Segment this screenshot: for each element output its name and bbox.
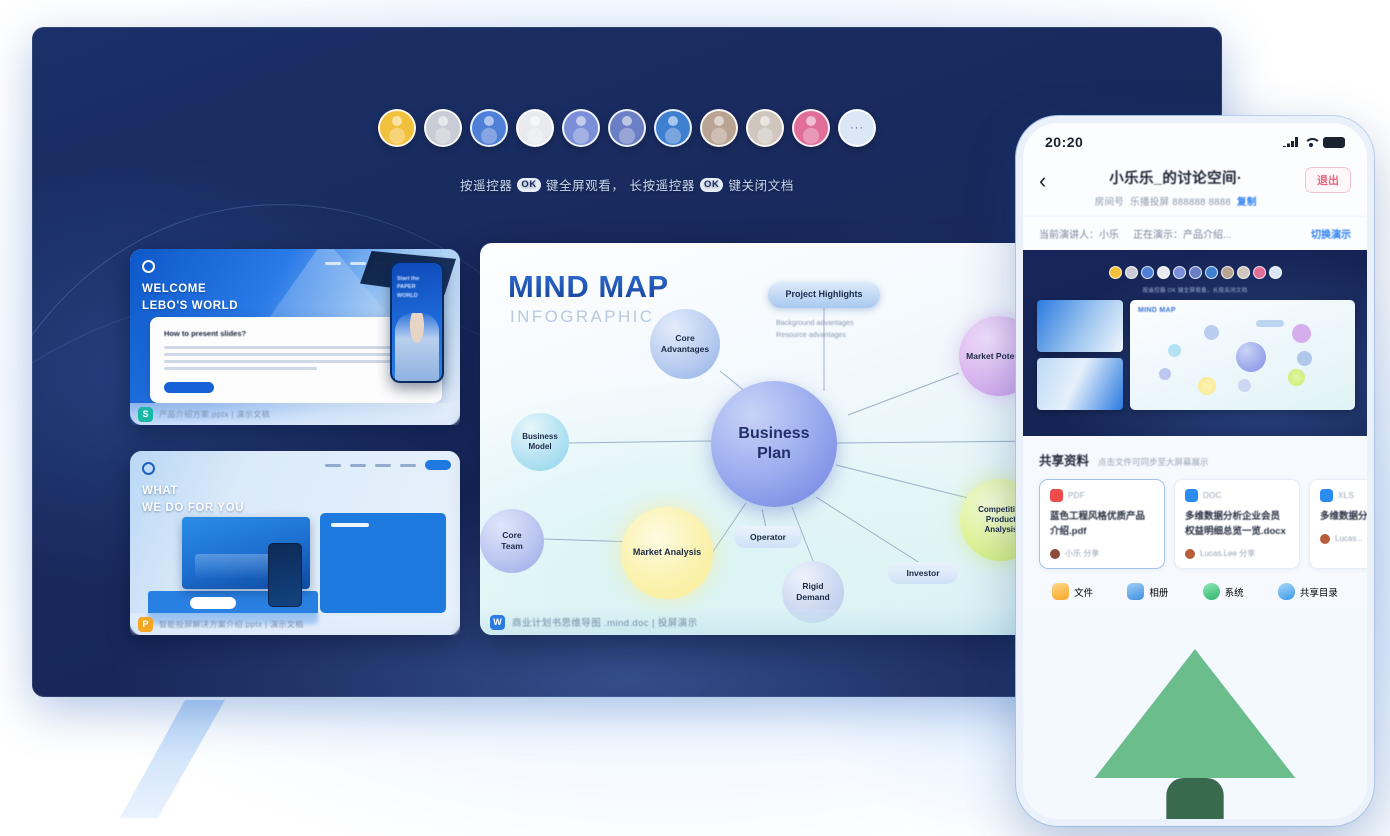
phone-header: ‹ 小乐乐_的讨论空间· 房间号 乐播投屏 888888 8888 复制 退出 (1023, 161, 1367, 216)
node-label: Operator (750, 532, 786, 543)
document-type: PDF (1050, 489, 1154, 502)
owner-avatar (1050, 549, 1060, 559)
doc-icon (1185, 489, 1198, 502)
mirror-slide-thumb-2 (1037, 358, 1123, 410)
mirror-mindmap-title: MIND MAP (1138, 307, 1176, 314)
slide-b-device-graphic (182, 517, 326, 601)
slide-b-footer: P 智能投屏解决方案介绍.pptx | 演示文稿 (130, 613, 460, 635)
phone-caption-2: PAPER WORLD (397, 283, 437, 300)
shared-slide-card-services[interactable]: WHAT WE DO FOR YOU P 智能投屏解决方案介绍.pptx | 演… (130, 451, 460, 635)
room-code: 乐播投屏 888888 8888 (1130, 194, 1231, 208)
slide-a-title: WELCOME LEBO'S WORLD (142, 281, 238, 314)
mirror-avatar-row (1023, 266, 1367, 279)
mindmap-node-investor[interactable]: Investor (888, 562, 958, 584)
mindmap-node-market-analysis[interactable]: Market Analysis (621, 507, 713, 599)
shared-documents-header: 共享资料 点击文件可同步至大屏幕展示 (1039, 450, 1351, 469)
avatar-more-button[interactable]: ··· (838, 109, 876, 147)
mindmap-node-business-plan[interactable]: Business Plan (711, 381, 837, 507)
screen-mirror-preview[interactable]: 按遥控器 OK 键全屏观看，长按关闭文档 MIND MAP (1023, 250, 1367, 436)
shield-icon (1278, 583, 1295, 600)
battery-icon (1323, 137, 1345, 148)
avatar[interactable] (608, 109, 646, 147)
quick-action-label: 系统 (1225, 585, 1244, 599)
document-owner: Lucas... (1320, 534, 1374, 544)
switch-presentation-button[interactable]: 切换演示 (1311, 226, 1351, 241)
phone-header-center: 小乐乐_的讨论空间· 房间号 乐播投屏 888888 8888 复制 (1056, 165, 1295, 208)
highlight-note-line1: Background advantages (776, 317, 854, 329)
owner-avatar (1185, 549, 1195, 559)
slide-a-app-icon: S (138, 407, 153, 422)
avatar[interactable] (562, 109, 600, 147)
node-label-line1: Rigid (796, 581, 830, 592)
shared-documents-list: PDF 蓝色工程风格优质产品介绍.pdf 小乐 分享 DOC 多维数据分析企业会… (1039, 479, 1351, 569)
mindmap-node-operator[interactable]: Operator (734, 526, 802, 548)
avatar[interactable] (470, 109, 508, 147)
document-owner: 小乐 分享 (1050, 548, 1154, 559)
slide-b-text-panel (320, 513, 446, 613)
phone-device: 20:20 ‹ 小乐乐_的讨论空间· 房间号 乐播投屏 888888 8888 … (1016, 116, 1374, 826)
document-name: 蓝色工程风格优质产品介绍.pdf (1050, 510, 1154, 539)
quick-action-system[interactable]: 系统 (1203, 583, 1244, 600)
node-label-line2: Team (501, 541, 523, 552)
avatar[interactable] (424, 109, 462, 147)
gallery-icon (1127, 583, 1144, 600)
node-label-line2: Plan (738, 444, 809, 464)
slide-b-title: WHAT WE DO FOR YOU (142, 483, 244, 516)
current-document: 正在演示：产品介绍... (1133, 226, 1297, 241)
slide-b-logo-icon (142, 462, 155, 475)
node-label-line1: Business (738, 424, 809, 444)
slide-a-logo-icon (142, 260, 155, 273)
tip-part-3: 长按遥控器 (629, 175, 695, 194)
node-label-line2: Advantages (661, 344, 709, 355)
document-card[interactable]: DOC 多维数据分析企业会员权益明细总览一览.docx Lucas.Lee 分享 (1174, 479, 1300, 569)
node-label: Project Highlights (785, 289, 862, 300)
owner-name: 小乐 分享 (1065, 548, 1099, 559)
node-label-line2: Model (522, 442, 558, 452)
folder-icon (1052, 583, 1069, 600)
shared-documents-subtitle: 点击文件可同步至大屏幕展示 (1098, 456, 1209, 468)
slide-b-cta-button (190, 597, 236, 609)
node-label-line1: Core (661, 333, 709, 344)
node-label-line1: Business (522, 432, 558, 442)
document-type: DOC (1185, 489, 1289, 502)
document-type-label: DOC (1203, 491, 1222, 500)
tip-part-1: 按遥控器 (460, 175, 512, 194)
document-card[interactable]: PDF 蓝色工程风格优质产品介绍.pdf 小乐 分享 (1039, 479, 1165, 569)
slide-a-title-line2: LEBO'S WORLD (142, 298, 238, 315)
ok-key-badge-1: OK (517, 178, 540, 192)
signal-icon (1283, 137, 1298, 147)
slide-a-footer-text: 产品介绍方案.pptx | 演示文稿 (159, 409, 270, 420)
copy-code-button[interactable]: 复制 (1237, 194, 1257, 208)
node-label: Market Analysis (633, 547, 701, 558)
quick-action-gallery[interactable]: 相册 (1127, 583, 1168, 600)
document-card[interactable]: XLS 多维数据分析统计表 Lucas... (1309, 479, 1374, 569)
document-name: 多维数据分析统计表 (1320, 510, 1374, 525)
avatar[interactable] (516, 109, 554, 147)
cast-icon (1023, 606, 1367, 826)
current-presenter: 当前演讲人：小乐 (1039, 226, 1119, 241)
quick-actions-row: 文件 相册 系统 共享目录 (1023, 569, 1367, 606)
owner-avatar (1320, 534, 1330, 544)
shared-slide-card-welcome[interactable]: WELCOME LEBO'S WORLD How to present slid… (130, 249, 460, 425)
tip-part-4: 键关闭文档 (728, 175, 794, 194)
node-label: Investor (906, 568, 939, 579)
xls-icon (1320, 489, 1333, 502)
document-type: XLS (1320, 489, 1374, 502)
slide-a-title-line1: WELCOME (142, 281, 238, 298)
mindmap-node-core-team[interactable]: Core Team (480, 509, 544, 573)
owner-name: Lucas.Lee 分享 (1200, 548, 1255, 559)
mirror-slide-thumb-1 (1037, 300, 1123, 352)
mindmap-footer-text: 商业计划书思维导图 .mind.doc | 投屏演示 (512, 615, 697, 629)
status-icons (1283, 137, 1345, 148)
quick-action-label: 共享目录 (1300, 585, 1338, 599)
slide-b-footer-text: 智能投屏解决方案介绍.pptx | 演示文稿 (159, 619, 304, 630)
slide-b-nav (325, 460, 451, 470)
exit-room-button[interactable]: 退出 (1305, 167, 1351, 193)
phone-tab-bar: 本地投屏 账户 讨论组 (1023, 606, 1367, 826)
phone-status-bar: 20:20 (1023, 123, 1367, 161)
status-time: 20:20 (1045, 134, 1083, 150)
slide-a-text-lines (164, 346, 428, 370)
document-name: 多维数据分析企业会员权益明细总览一览.docx (1185, 510, 1289, 539)
document-type-label: PDF (1068, 491, 1085, 500)
quick-action-label: 文件 (1074, 585, 1093, 599)
slide-a-phone-graphic: Start the PAPER WORLD (390, 261, 444, 383)
mindmap-node-core-advantages[interactable]: Core Advantages (650, 309, 720, 379)
document-type-label: XLS (1338, 491, 1354, 500)
avatar[interactable] (654, 109, 692, 147)
highlight-note-line2: Resource advantages (776, 329, 854, 341)
mirror-cards: MIND MAP (1037, 300, 1355, 410)
slide-b-phone-graphic (268, 543, 302, 607)
mirror-mindmap-thumb: MIND MAP (1130, 300, 1355, 410)
mindmap-app-icon: W (490, 615, 505, 630)
slide-a-phone-caption: Start the PAPER WORLD (397, 275, 437, 300)
ok-key-badge-2: OK (700, 178, 723, 192)
back-icon[interactable]: ‹ (1039, 165, 1046, 192)
slide-a-cta-button (164, 382, 214, 393)
node-label-line2: Demand (796, 592, 830, 603)
document-owner: Lucas.Lee 分享 (1185, 548, 1289, 559)
room-meta: 房间号 乐播投屏 888888 8888 复制 (1056, 194, 1295, 208)
room-title: 小乐乐_的讨论空间· (1056, 167, 1295, 188)
slide-b-title-line2: WE DO FOR YOU (142, 500, 244, 517)
slide-b-app-icon: P (138, 617, 153, 632)
tip-part-2: 键全屏观看， (546, 175, 625, 194)
recycle-icon (1203, 583, 1220, 600)
mindmap-node-project-highlights[interactable]: Project Highlights (768, 282, 880, 308)
quick-action-files[interactable]: 文件 (1052, 583, 1093, 600)
slide-a-sheet-heading: How to present slides? (164, 329, 428, 338)
avatar-more-label: ··· (850, 123, 864, 134)
phone-presenter-bar: 当前演讲人：小乐 正在演示：产品介绍... 切换演示 (1023, 216, 1367, 250)
phone-caption-1: Start the (397, 275, 437, 283)
shared-documents-title: 共享资料 (1039, 450, 1089, 469)
node-label-line1: Core (501, 530, 523, 541)
avatar[interactable] (700, 109, 738, 147)
slide-a-footer: S 产品介绍方案.pptx | 演示文稿 (130, 403, 460, 425)
slide-b-panel-heading (331, 523, 369, 527)
mirror-left-column (1037, 300, 1123, 410)
tab-local-cast[interactable]: 本地投屏 (1023, 606, 1367, 826)
wifi-icon (1304, 137, 1317, 147)
avatar[interactable] (792, 109, 830, 147)
owner-name: Lucas... (1335, 534, 1363, 543)
mirror-tip-text: 按遥控器 OK 键全屏观看，长按关闭文档 (1023, 286, 1367, 294)
avatar[interactable] (746, 109, 784, 147)
quick-action-shared-dir[interactable]: 共享目录 (1278, 583, 1338, 600)
mindmap-highlight-note: Background advantages Resource advantage… (776, 317, 854, 341)
mindmap-node-business-model[interactable]: Business Model (511, 413, 569, 471)
avatar[interactable] (378, 109, 416, 147)
shared-documents-section: 共享资料 点击文件可同步至大屏幕展示 PDF 蓝色工程风格优质产品介绍.pdf … (1023, 436, 1367, 569)
room-number-label: 房间号 (1095, 194, 1124, 208)
slide-b-title-line1: WHAT (142, 483, 244, 500)
quick-action-label: 相册 (1149, 585, 1168, 599)
slide-a-person-graphic (395, 313, 439, 381)
pdf-icon (1050, 489, 1063, 502)
